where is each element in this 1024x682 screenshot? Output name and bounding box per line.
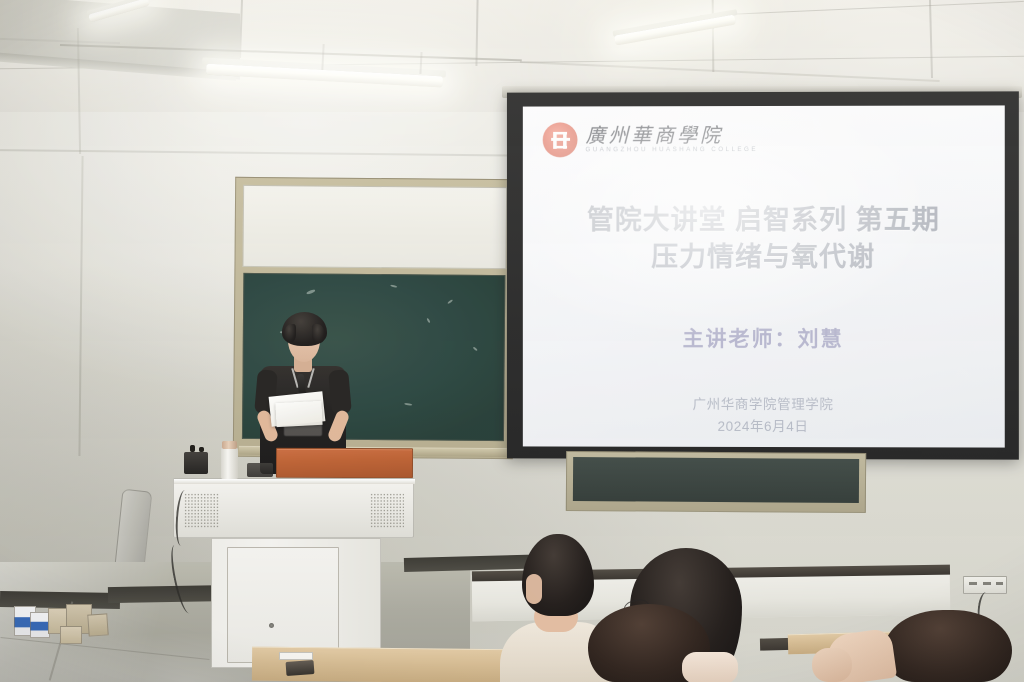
socket-slot bbox=[983, 582, 991, 585]
presenter-sleeve-right bbox=[328, 369, 352, 415]
cardboard-box-4 bbox=[87, 613, 108, 636]
lectern-cabinet-door[interactable] bbox=[227, 547, 339, 663]
lectern-top[interactable] bbox=[173, 478, 414, 538]
lower-chalkboard-surface bbox=[573, 457, 859, 503]
projected-slide: 廣州華商學院 GUANGZHOU HUASHANG COLLEGE 管院大讲堂 … bbox=[523, 105, 1005, 447]
control-box-knob bbox=[199, 447, 204, 452]
audience-ear-side bbox=[526, 574, 542, 604]
chalk-mark bbox=[426, 318, 430, 323]
slide-footer-date: 2024年6月4日 bbox=[523, 416, 1005, 439]
lectern-cabinet-lock[interactable] bbox=[269, 623, 274, 628]
guangzhou-huashang-college-emblem-icon bbox=[543, 122, 578, 157]
control-box-knob bbox=[190, 445, 195, 452]
logo-english-name: GUANGZHOU HUASHANG COLLEGE bbox=[585, 147, 758, 153]
socket-slot bbox=[969, 582, 977, 585]
socket-slot bbox=[996, 582, 1003, 585]
product-box-blue bbox=[30, 612, 50, 638]
lower-chalkboard bbox=[566, 451, 866, 513]
presenter-hair-side bbox=[284, 324, 296, 342]
chalk-mark bbox=[404, 403, 412, 406]
audience-shoulder-light bbox=[682, 652, 738, 682]
slide-speaker-line: 主讲老师：刘慧 bbox=[523, 323, 1005, 353]
chalkboard-white-panel bbox=[242, 185, 507, 269]
smartphone-on-desk[interactable] bbox=[286, 660, 315, 676]
logo-wordmark: 廣州華商學院 GUANGZHOU HUASHANG COLLEGE bbox=[585, 126, 758, 153]
audience-hand bbox=[812, 648, 852, 682]
chalk-mark bbox=[472, 347, 477, 352]
cardboard-box-3 bbox=[60, 626, 82, 644]
thermos-flask bbox=[221, 447, 238, 479]
logo-chinese-name: 廣州華商學院 bbox=[585, 126, 758, 146]
podium-misc-item bbox=[247, 463, 273, 477]
slide-title: 管院大讲堂 启智系列 第五期 压力情绪与氧代谢 bbox=[523, 202, 1005, 277]
chalk-mark bbox=[306, 289, 315, 295]
lectern-top-edge bbox=[174, 479, 415, 484]
slide-title-line-1: 管院大讲堂 启智系列 第五期 bbox=[523, 202, 1005, 240]
pull-down-projection-screen: 廣州華商學院 GUANGZHOU HUASHANG COLLEGE 管院大讲堂 … bbox=[507, 91, 1019, 459]
lecture-hall-photo: 廣州華商學院 GUANGZHOU HUASHANG COLLEGE 管院大讲堂 … bbox=[0, 0, 1024, 682]
paper-script-sheet bbox=[275, 401, 322, 427]
chalk-mark bbox=[447, 299, 453, 304]
audience-member-4 bbox=[884, 610, 1012, 682]
slide-footer: 广州华商学院管理学院 2024年6月4日 bbox=[523, 394, 1005, 439]
thermos-cap bbox=[222, 441, 237, 449]
slide-logo: 廣州華商學院 GUANGZHOU HUASHANG COLLEGE bbox=[543, 122, 758, 157]
slide-footer-organization: 广州华商学院管理学院 bbox=[523, 394, 1005, 417]
desk-name-card bbox=[279, 652, 313, 660]
chalk-mark bbox=[390, 284, 397, 288]
slide-title-line-2: 压力情绪与氧代谢 bbox=[523, 239, 1005, 276]
lectern-speaker-grille-right bbox=[370, 493, 404, 529]
lectern-wood-panel bbox=[276, 448, 413, 478]
audience-hair bbox=[884, 610, 1012, 682]
control-box[interactable] bbox=[184, 452, 208, 474]
